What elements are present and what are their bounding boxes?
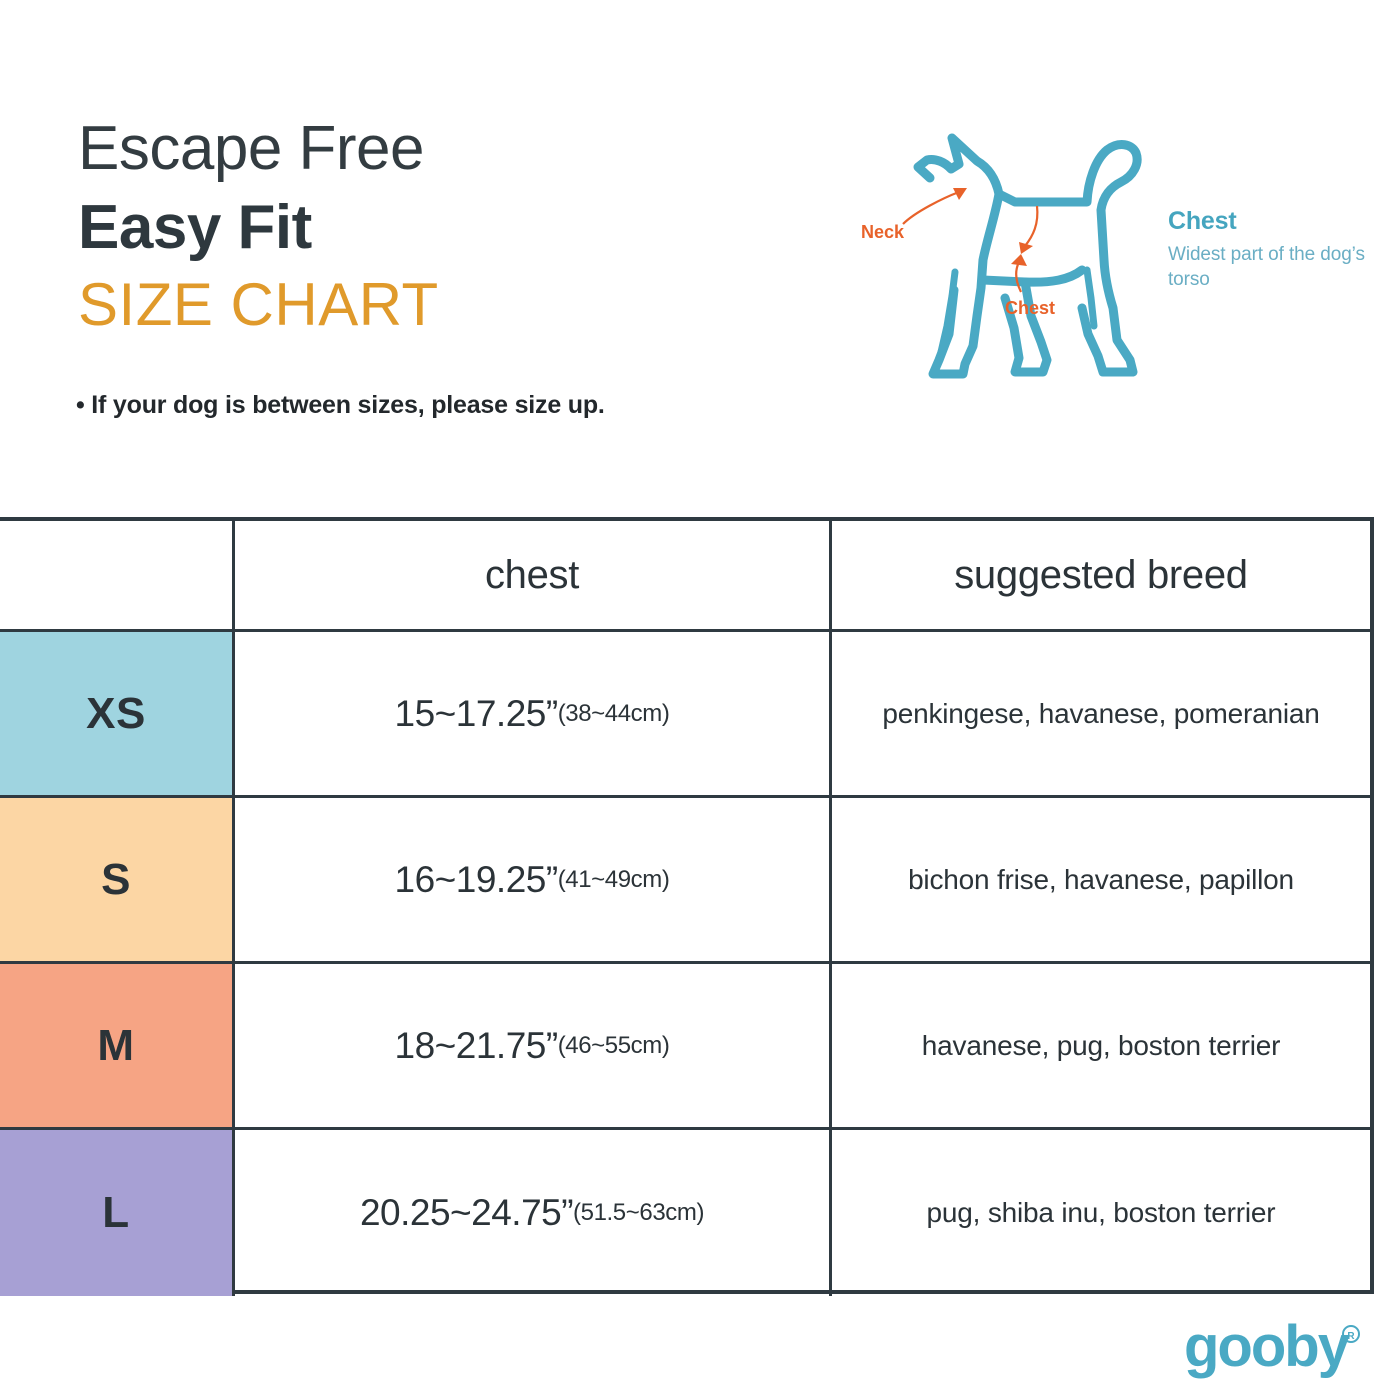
breed-cell: penkingese, havanese, pomeranian [832, 632, 1370, 795]
brand-logo: gooby R [1184, 1316, 1374, 1386]
breed-list: havanese, pug, boston terrier [922, 1027, 1280, 1065]
chest-label: Chest [1005, 298, 1055, 318]
chest-measurement-inches: 16~19.25” [395, 859, 558, 901]
size-cell-xs: XS [0, 632, 235, 795]
chest-cell: 15~17.25”(38~44cm) [235, 632, 832, 795]
breed-list: bichon frise, havanese, papillon [908, 861, 1294, 899]
brand-wordmark: gooby [1184, 1316, 1350, 1379]
breed-list: penkingese, havanese, pomeranian [882, 695, 1319, 733]
table-row: M 18~21.75”(46~55cm) havanese, pug, bost… [0, 964, 1370, 1130]
chest-cell: 20.25~24.75”(51.5~63cm) [235, 1130, 832, 1296]
chest-measurement-inches: 20.25~24.75” [360, 1192, 573, 1234]
size-cell-m: M [0, 964, 235, 1127]
breed-list: pug, shiba inu, boston terrier [927, 1194, 1276, 1232]
chest-measurement-metric: (41~49cm) [558, 866, 670, 894]
title-block: Escape Free Easy Fit SIZE CHART [78, 112, 439, 340]
neck-label: Neck [861, 222, 905, 242]
size-cell-l: L [0, 1130, 235, 1296]
header-cell-breed: suggested breed [832, 521, 1370, 629]
chest-cell: 18~21.75”(46~55cm) [235, 964, 832, 1127]
product-name-title: Easy Fit [78, 190, 439, 266]
table-row: L 20.25~24.75”(51.5~63cm) pug, shiba inu… [0, 1130, 1370, 1296]
svg-text:R: R [1347, 1331, 1355, 1342]
table-row: XS 15~17.25”(38~44cm) penkingese, havane… [0, 632, 1370, 798]
table-header-row: chest suggested breed [0, 521, 1370, 632]
header-section: Escape Free Easy Fit SIZE CHART • If you… [0, 0, 1400, 515]
size-label: M [97, 1021, 134, 1071]
size-label: XS [86, 689, 146, 739]
chest-measurement-arrow-lower [1016, 262, 1021, 292]
breed-cell: pug, shiba inu, boston terrier [832, 1130, 1370, 1296]
size-cell-s: S [0, 798, 235, 961]
chest-measurement-inches: 15~17.25” [395, 693, 558, 735]
chest-cell: 16~19.25”(41~49cm) [235, 798, 832, 961]
table-row: S 16~19.25”(41~49cm) bichon frise, havan… [0, 798, 1370, 964]
diagram-legend: Chest Widest part of the dog’s torso [1168, 205, 1368, 292]
size-chart-page: Escape Free Easy Fit SIZE CHART • If you… [0, 0, 1400, 1400]
chest-measurement-metric: (51.5~63cm) [573, 1199, 704, 1227]
size-label: L [102, 1188, 129, 1238]
legend-description: Widest part of the dog’s torso [1168, 242, 1368, 292]
header-cell-chest: chest [235, 521, 832, 629]
header-label-breed: suggested breed [954, 553, 1248, 598]
breed-cell: bichon frise, havanese, papillon [832, 798, 1370, 961]
chest-arrow-head-lower [1011, 254, 1027, 266]
dog-outline-icon [918, 138, 1137, 374]
header-label-chest: chest [485, 553, 579, 598]
chest-measurement-inches: 18~21.75” [395, 1025, 558, 1067]
dog-measurement-diagram: Neck Chest [855, 120, 1175, 385]
chest-measurement-arrow-upper [1025, 206, 1037, 246]
breed-cell: havanese, pug, boston terrier [832, 964, 1370, 1127]
size-label: S [101, 855, 131, 905]
sizing-note: • If your dog is between sizes, please s… [76, 391, 605, 420]
product-line-title: Escape Free [78, 112, 439, 186]
header-cell-size [0, 521, 235, 629]
page-title: SIZE CHART [78, 270, 439, 340]
neck-measurement-arrow [903, 192, 959, 224]
size-chart-table: chest suggested breed XS 15~17.25”(38~44… [0, 517, 1374, 1294]
chest-measurement-metric: (38~44cm) [558, 700, 670, 728]
chest-measurement-metric: (46~55cm) [558, 1032, 670, 1060]
legend-title: Chest [1168, 205, 1368, 237]
